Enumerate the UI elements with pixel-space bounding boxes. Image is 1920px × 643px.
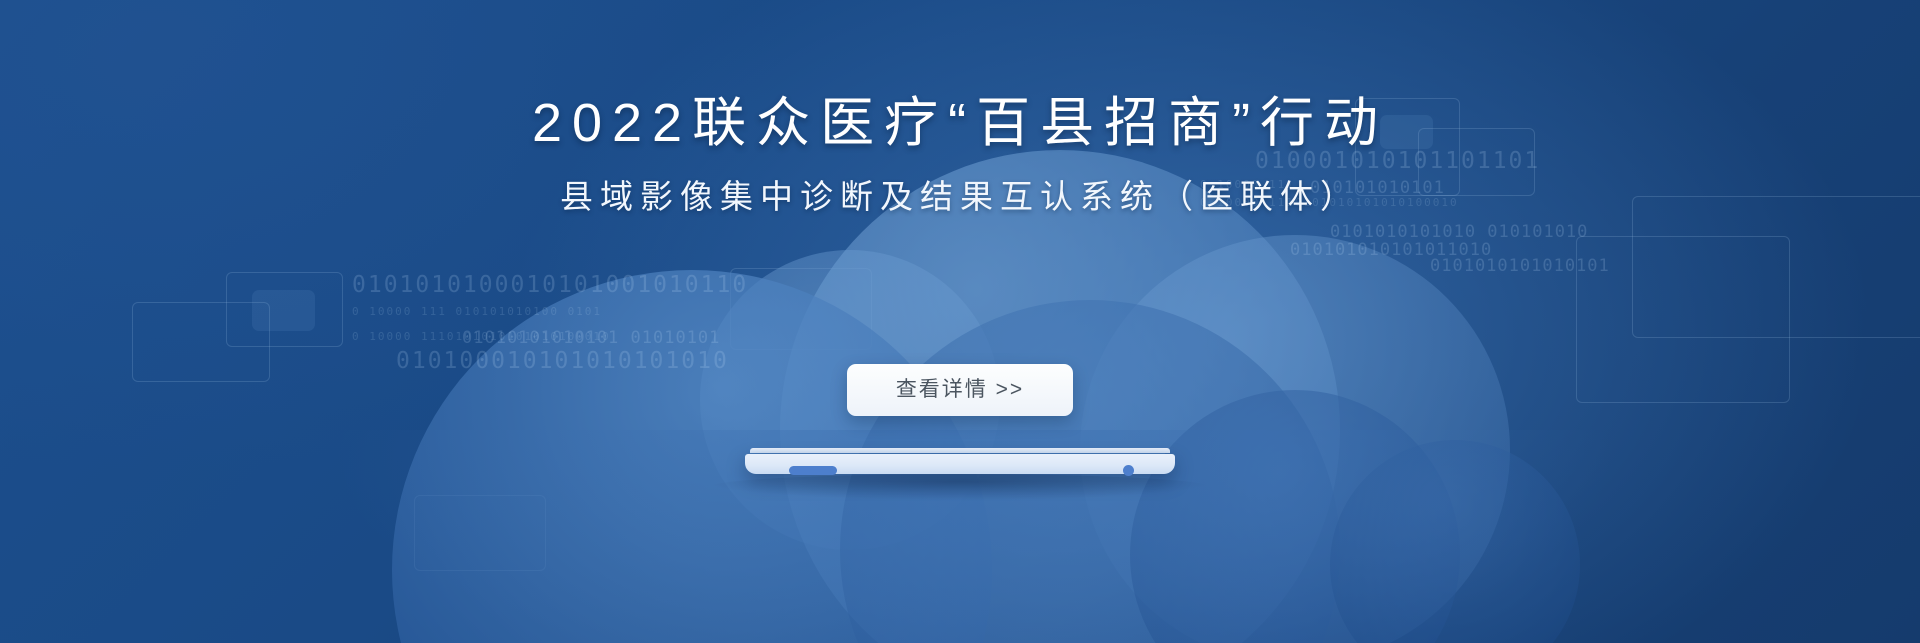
banner-title: 2022联众医疗“百县招商”行动	[0, 96, 1920, 150]
laptop-trackpad-pill-icon	[789, 466, 837, 475]
banner-subtitle: 县域影像集中诊断及结果互认系统（医联体）	[0, 180, 1920, 213]
deco-fill-left	[252, 290, 315, 331]
laptop-indicator-dot-icon	[1123, 465, 1134, 476]
binary-text: 01010101010101 01010101	[462, 328, 720, 348]
headline-block: 2022联众医疗“百县招商”行动 县域影像集中诊断及结果互认系统（医联体）	[0, 96, 1920, 213]
promo-banner: 0101010100010101001010110 0 10000 111 01…	[0, 0, 1920, 643]
laptop-screen-lip	[750, 448, 1170, 453]
binary-text: 0101010101010101	[1430, 256, 1610, 276]
binary-text: 0 10000 111 010101010100 0101	[352, 305, 602, 318]
binary-text: 0101010100010101001010110	[352, 272, 748, 298]
binary-text: 0101010101010 010101010	[1330, 222, 1588, 242]
laptop-base	[745, 454, 1175, 474]
cta-container: 查看详情 >>	[0, 364, 1920, 416]
view-details-button[interactable]: 查看详情 >>	[847, 364, 1073, 416]
deco-rect-right-wide	[1632, 196, 1920, 338]
laptop-illustration	[745, 448, 1175, 478]
